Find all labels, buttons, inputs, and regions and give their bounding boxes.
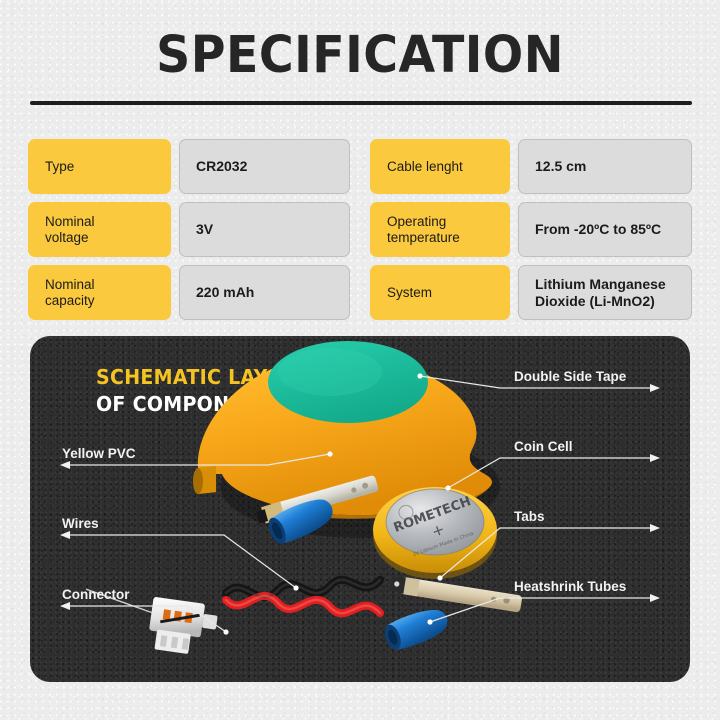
spec-column-right: Cable lenght 12.5 cm Operating temperatu…: [370, 139, 692, 320]
callout-label-coin-cell: Coin Cell: [514, 439, 573, 454]
callout-label-tabs: Tabs: [514, 509, 545, 524]
schematic-layout-panel: SCHEMATIC LAYOUT OF COMPONENTS: [30, 336, 690, 682]
spec-value-type: CR2032: [179, 139, 350, 194]
spec-value-nominal-capacity: 220 mAh: [179, 265, 350, 320]
callout-label-heatshrink-tubes: Heatshrink Tubes: [514, 579, 626, 594]
metal-tab-lower: [389, 575, 522, 612]
spec-value-nominal-voltage: 3V: [179, 202, 350, 257]
spec-key-operating-temperature: Operating temperature: [370, 202, 510, 257]
specification-table: Type CR2032 Nominal voltage 3V Nominal c…: [28, 139, 692, 320]
spec-key-type: Type: [28, 139, 171, 194]
callout-label-wires: Wires: [62, 516, 99, 531]
title-divider: [30, 101, 692, 105]
callout-label-double-side-tape: Double Side Tape: [514, 369, 626, 384]
spec-key-nominal-voltage: Nominal voltage: [28, 202, 171, 257]
spec-row: Type CR2032: [28, 139, 350, 194]
spec-value-system: Lithium Manganese Dioxide (Li-MnO2): [518, 265, 692, 320]
spec-row: Operating temperature From -20ºC to 85ºC: [370, 202, 692, 257]
spec-row: Cable lenght 12.5 cm: [370, 139, 692, 194]
spec-value-operating-temperature: From -20ºC to 85ºC: [518, 202, 692, 257]
components-illustration: ROMETECH + 3V Lithium Made in China: [30, 336, 690, 682]
spec-key-system: System: [370, 265, 510, 320]
spec-row: Nominal capacity 220 mAh: [28, 265, 350, 320]
page-title: SPECIFICATION: [25, 28, 695, 84]
spec-key-cable-length: Cable lenght: [370, 139, 510, 194]
spec-row: System Lithium Manganese Dioxide (Li-MnO…: [370, 265, 692, 320]
callout-label-connector: Connector: [62, 587, 130, 602]
twisted-wires: [226, 580, 380, 614]
spec-key-nominal-capacity: Nominal capacity: [28, 265, 171, 320]
spec-column-left: Type CR2032 Nominal voltage 3V Nominal c…: [28, 139, 350, 320]
spec-row: Nominal voltage 3V: [28, 202, 350, 257]
callout-label-yellow-pvc: Yellow PVC: [62, 446, 136, 461]
heatshrink-tube-lower: [381, 603, 452, 653]
double-side-tape: [268, 341, 428, 423]
spec-value-cable-length: 12.5 cm: [518, 139, 692, 194]
